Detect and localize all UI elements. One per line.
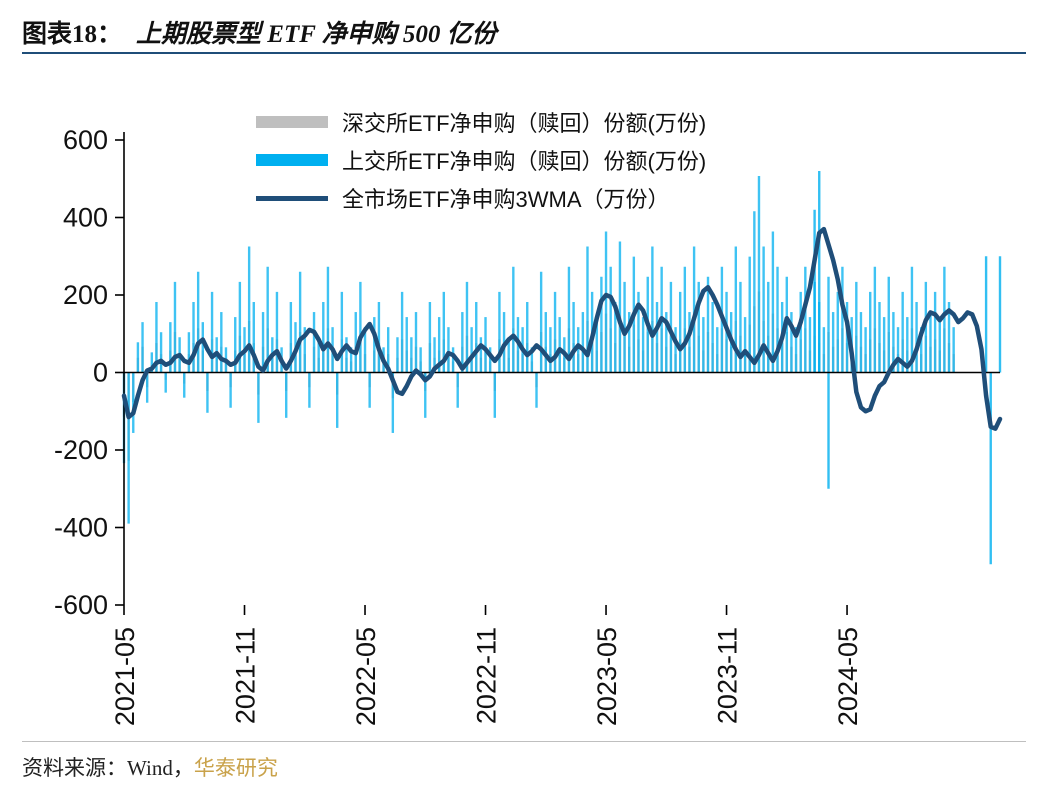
y-tick-label: -600 xyxy=(54,590,108,620)
legend-swatch-shanghai xyxy=(256,154,328,166)
legend-swatch-ma3wma xyxy=(256,196,328,201)
title-divider xyxy=(22,52,1026,54)
figure-title-bar: 图表18： 上期股票型 ETF 净申购 500 亿份 xyxy=(22,14,1026,50)
x-tick-label: 2024-05 xyxy=(833,627,863,726)
legend-label-ma3wma: 全市场ETF净申购3WMA（万份） xyxy=(342,182,670,214)
x-tick-label: 2022-11 xyxy=(472,627,502,724)
footer-divider xyxy=(22,741,1026,742)
legend-label-shanghai: 上交所ETF净申购（赎回）份额(万份) xyxy=(342,144,706,176)
page-title: 上期股票型 ETF 净申购 500 亿份 xyxy=(136,14,497,50)
source-prefix: 资料来源：Wind， xyxy=(22,756,194,780)
figure-label: 图表18： xyxy=(22,14,122,50)
y-tick-label: 0 xyxy=(93,358,108,388)
legend-label-shenzhen: 深交所ETF净申购（赎回）份额(万份) xyxy=(342,106,706,138)
x-tick-label: 2022-05 xyxy=(351,627,381,726)
y-tick-label: 200 xyxy=(63,280,108,310)
y-tick-label: 600 xyxy=(63,125,108,155)
x-tick-label: 2021-05 xyxy=(110,627,140,726)
legend-item-ma3wma: 全市场ETF净申购3WMA（万份） xyxy=(256,179,706,217)
legend-swatch-shenzhen xyxy=(256,116,328,128)
chart-legend: 深交所ETF净申购（赎回）份额(万份) 上交所ETF净申购（赎回）份额(万份) … xyxy=(256,103,706,217)
y-tick-label: 400 xyxy=(63,203,108,233)
source-brand: 华泰研究 xyxy=(194,756,278,780)
y-tick-label: -400 xyxy=(54,513,108,543)
x-tick-label: 2023-05 xyxy=(592,627,622,726)
ma3wma-line xyxy=(124,229,1000,429)
x-tick-label: 2023-11 xyxy=(713,627,743,724)
y-tick-label: -200 xyxy=(54,435,108,465)
x-tick-label: 2021-11 xyxy=(231,627,261,724)
legend-item-shenzhen: 深交所ETF净申购（赎回）份额(万份) xyxy=(256,103,706,141)
legend-item-shanghai: 上交所ETF净申购（赎回）份额(万份) xyxy=(256,141,706,179)
source-note: 资料来源：Wind，华泰研究 xyxy=(22,752,278,782)
